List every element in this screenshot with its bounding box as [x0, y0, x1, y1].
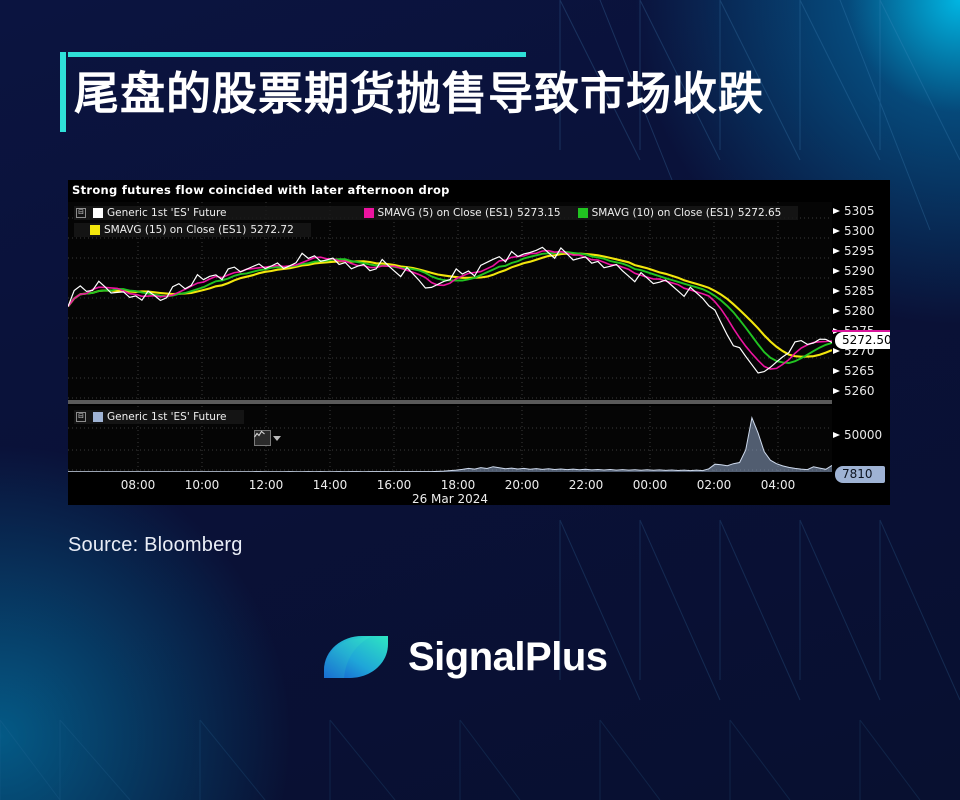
volume-chart-type-control[interactable]	[254, 430, 281, 446]
page-title: 尾盘的股票期货抛售导致市场收跌	[74, 66, 764, 122]
legend-item-smavg5: SMAVG (5) on Close (ES1) 5273.15	[364, 207, 561, 219]
bottom-time-axis: 08:00 10:00 12:00 14:00 16:00 18:00 20:0…	[68, 474, 890, 505]
x-tick-label: 22:00	[569, 478, 604, 492]
tick-arrow	[833, 248, 840, 254]
x-tick-label: 14:00	[313, 478, 348, 492]
volume-y-tick-label: 50000	[844, 429, 882, 441]
x-tick-label: 00:00	[633, 478, 668, 492]
legend-label-smavg10: SMAVG (10) on Close (ES1)	[592, 207, 734, 219]
price-legend-row-secondary: SMAVG (15) on Close (ES1) 5272.72	[74, 223, 311, 237]
legend-expander-icon[interactable]: ⊟	[76, 208, 86, 218]
brand-name: SignalPlus	[408, 635, 608, 680]
right-value-axis: 5305 5300 5295 5290 5285 5280 5275 5270 …	[832, 202, 890, 472]
x-tick-label: 08:00	[121, 478, 156, 492]
title-left-accent-rule	[60, 52, 66, 132]
legend-swatch-smavg10	[578, 208, 588, 218]
volume-legend-expander-icon[interactable]: ⊟	[76, 412, 86, 422]
x-tick-label: 10:00	[185, 478, 220, 492]
bloomberg-chart-panel: Strong futures flow coincided with later…	[68, 180, 890, 505]
legend-item-price: Generic 1st 'ES' Future	[93, 207, 227, 219]
price-plot-area: ⊟ Generic 1st 'ES' Future SMAVG (5) on C…	[68, 202, 832, 400]
y-tick-label: 5305	[844, 205, 875, 217]
volume-legend-row: ⊟ Generic 1st 'ES' Future	[74, 410, 244, 424]
y-tick-label: 5280	[844, 305, 875, 317]
y-tick-label: 5265	[844, 365, 875, 377]
line-chart-icon-glyph	[254, 430, 265, 439]
line-chart-icon[interactable]	[254, 430, 271, 446]
legend-label-smavg15: SMAVG (15) on Close (ES1)	[104, 224, 246, 236]
legend-item-smavg10: SMAVG (10) on Close (ES1) 5272.65	[578, 207, 782, 219]
legend-value-smavg10: 5272.65	[738, 207, 781, 219]
x-axis-date-label: 26 Mar 2024	[412, 492, 488, 505]
chevron-down-icon[interactable]	[273, 436, 281, 441]
tick-arrow	[833, 308, 840, 314]
last-volume-badge: 7810	[835, 466, 885, 483]
y-tick-label: 5260	[844, 385, 875, 397]
last-price-badge: 5272.50	[835, 332, 890, 349]
legend-swatch-smavg5	[364, 208, 374, 218]
x-tick-label: 20:00	[505, 478, 540, 492]
legend-label-price: Generic 1st 'ES' Future	[107, 207, 227, 219]
legend-item-volume: Generic 1st 'ES' Future	[93, 411, 227, 423]
x-tick-label: 02:00	[697, 478, 732, 492]
tick-arrow	[833, 368, 840, 374]
volume-plot-area: ⊟ Generic 1st 'ES' Future	[68, 406, 832, 472]
y-tick-label: 5290	[844, 265, 875, 277]
legend-item-smavg15: SMAVG (15) on Close (ES1) 5272.72	[90, 224, 294, 236]
x-tick-label: 04:00	[761, 478, 796, 492]
legend-label-smavg5: SMAVG (5) on Close (ES1)	[378, 207, 514, 219]
y-tick-label: 5300	[844, 225, 875, 237]
chart-headline: Strong futures flow coincided with later…	[72, 183, 450, 197]
brand-logo: SignalPlus	[320, 628, 608, 686]
signalplus-wave-logo-icon	[320, 628, 392, 686]
tick-arrow	[833, 288, 840, 294]
title-block: 尾盘的股票期货抛售导致市场收跌	[60, 52, 820, 138]
tick-arrow	[833, 432, 840, 438]
price-legend-row-primary: ⊟ Generic 1st 'ES' Future SMAVG (5) on C…	[74, 206, 798, 220]
legend-swatch-price	[93, 208, 103, 218]
title-top-accent-rule	[68, 52, 526, 57]
tick-arrow	[833, 268, 840, 274]
x-tick-label: 18:00	[441, 478, 476, 492]
legend-value-smavg15: 5272.72	[250, 224, 293, 236]
legend-swatch-smavg15	[90, 225, 100, 235]
tick-arrow	[833, 348, 840, 354]
legend-swatch-volume	[93, 412, 103, 422]
x-tick-label: 12:00	[249, 478, 284, 492]
tick-arrow	[833, 208, 840, 214]
legend-label-volume: Generic 1st 'ES' Future	[107, 411, 227, 423]
legend-value-smavg5: 5273.15	[517, 207, 560, 219]
x-tick-label: 16:00	[377, 478, 412, 492]
panel-separator	[68, 400, 890, 404]
tick-arrow	[833, 228, 840, 234]
tick-arrow	[833, 388, 840, 394]
source-label: Source: Bloomberg	[68, 534, 243, 557]
y-tick-label: 5285	[844, 285, 875, 297]
y-tick-label: 5295	[844, 245, 875, 257]
